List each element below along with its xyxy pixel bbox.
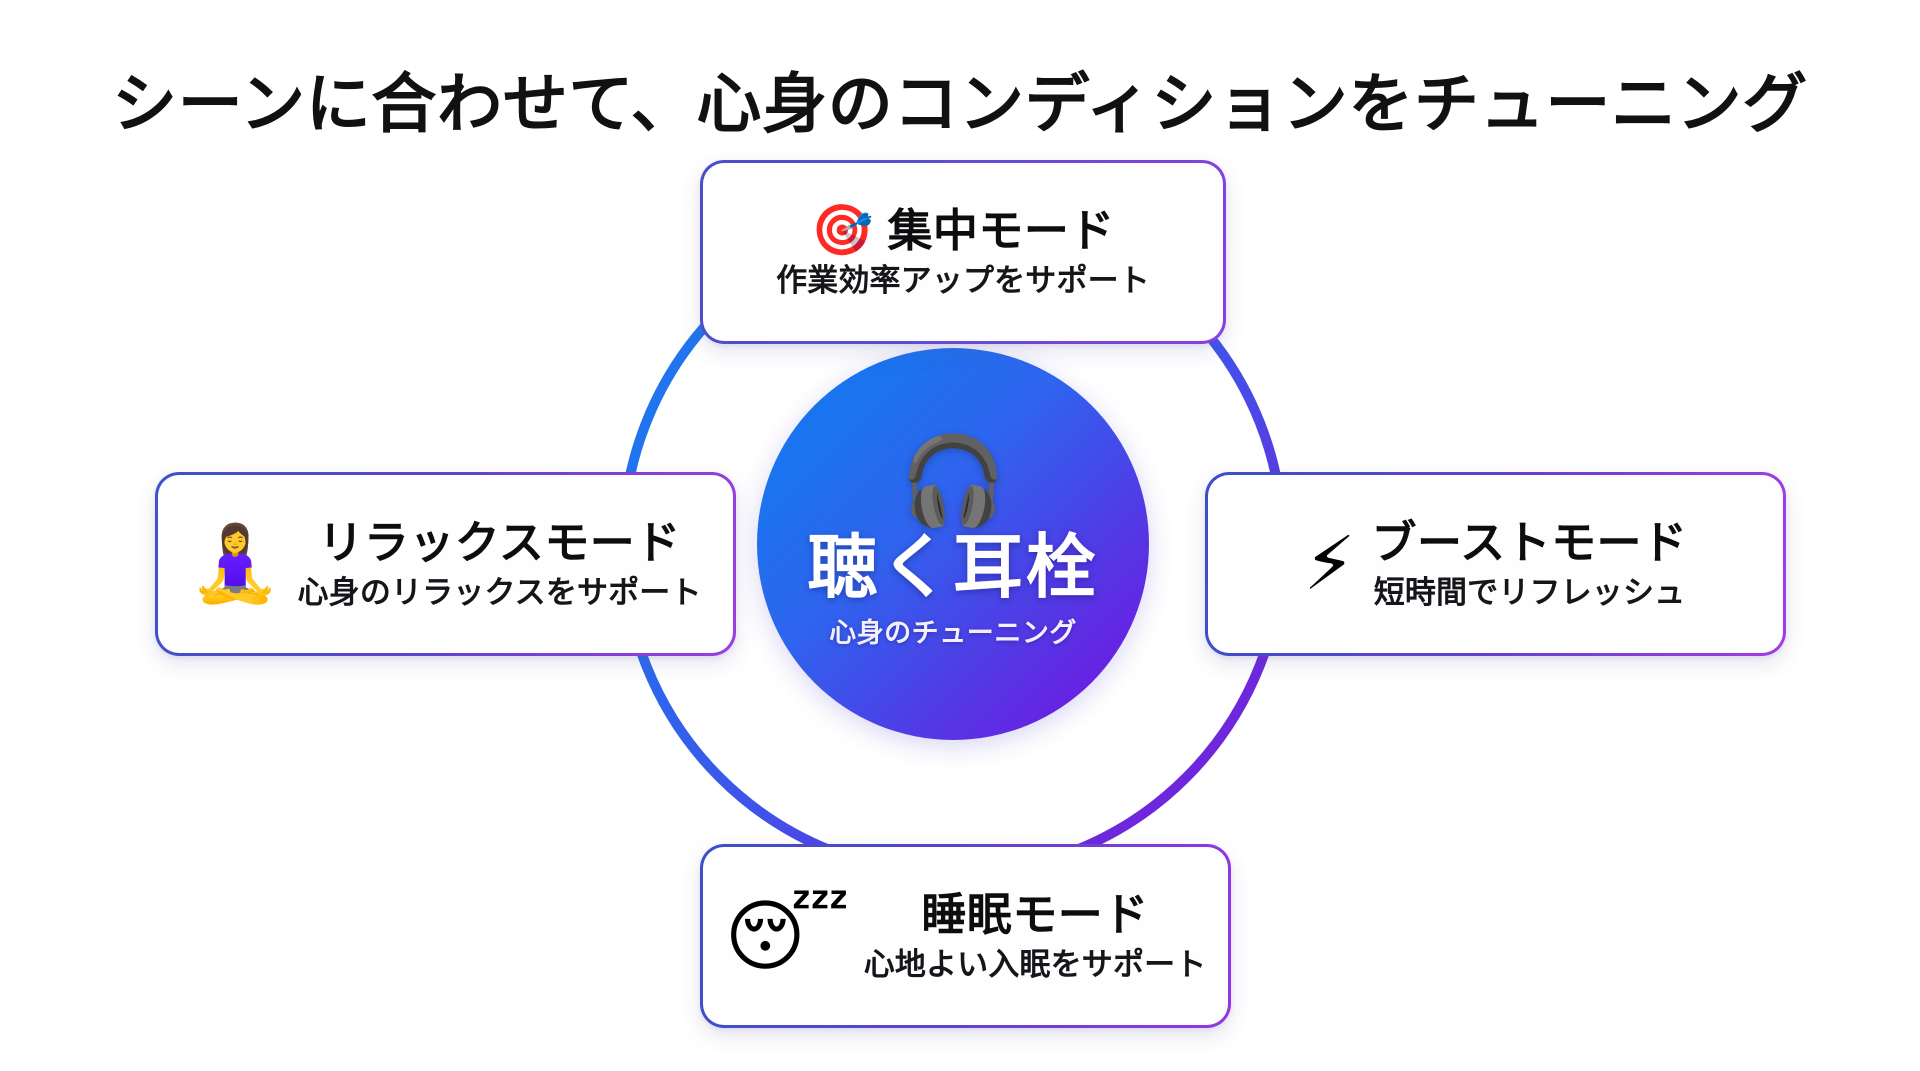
mode-card-relax-title: リラックスモード bbox=[318, 517, 680, 568]
mode-card-boost-text: ブーストモード 短時間でリフレッシュ bbox=[1372, 517, 1688, 611]
meditating-person-icon: 🧘‍♀️ bbox=[189, 527, 281, 601]
headphones-icon: 🎧 bbox=[899, 438, 1006, 524]
mode-card-boost-title: ブーストモード bbox=[1372, 517, 1688, 568]
mode-card-relax-body: 🧘‍♀️ リラックスモード 心身のリラックスをサポート bbox=[171, 517, 719, 611]
mode-card-sleep-inner: 😴 睡眠モード 心地よい入眠をサポート bbox=[703, 847, 1228, 1025]
mode-card-boost-subtitle: 短時間でリフレッシュ bbox=[1374, 574, 1686, 611]
mode-card-focus-subtitle: 作業効率アップをサポート bbox=[776, 262, 1150, 299]
mode-card-sleep-subtitle: 心地よい入眠をサポート bbox=[864, 946, 1207, 983]
mode-card-relax-subtitle: 心身のリラックスをサポート bbox=[298, 574, 702, 611]
mode-card-relax-text: リラックスモード 心身のリラックスをサポート bbox=[298, 517, 702, 611]
sleeping-face-icon: 😴 bbox=[725, 897, 850, 975]
mode-card-focus-title-row: 🎯 集中モード bbox=[811, 205, 1115, 256]
mode-card-sleep[interactable]: 😴 睡眠モード 心地よい入眠をサポート bbox=[700, 844, 1231, 1028]
mode-card-sleep-title: 睡眠モード bbox=[921, 889, 1148, 940]
hub-title: 聴く耳栓 bbox=[807, 530, 1098, 606]
page-title: シーンに合わせて、心身のコンディションをチューニング bbox=[0, 68, 1920, 141]
target-icon: 🎯 bbox=[811, 205, 873, 255]
mode-card-sleep-body: 😴 睡眠モード 心地よい入眠をサポート bbox=[707, 889, 1225, 983]
mode-card-sleep-text: 睡眠モード 心地よい入眠をサポート bbox=[864, 889, 1207, 983]
mode-card-focus-body: 🎯 集中モード 作業効率アップをサポート bbox=[758, 205, 1168, 299]
mode-card-relax[interactable]: 🧘‍♀️ リラックスモード 心身のリラックスをサポート bbox=[155, 472, 736, 656]
mode-card-focus[interactable]: 🎯 集中モード 作業効率アップをサポート bbox=[700, 160, 1226, 344]
center-hub: 🎧 聴く耳栓 心身のチューニング bbox=[757, 348, 1149, 740]
mode-card-focus-inner: 🎯 集中モード 作業効率アップをサポート bbox=[703, 163, 1223, 341]
mode-card-boost-inner: ⚡ ブーストモード 短時間でリフレッシュ bbox=[1208, 475, 1783, 653]
mode-diagram: 🎧 聴く耳栓 心身のチューニング 🎯 集中モード 作業効率アップをサポート 🧘‍… bbox=[0, 150, 1920, 1050]
mode-card-relax-inner: 🧘‍♀️ リラックスモード 心身のリラックスをサポート bbox=[158, 475, 733, 653]
mode-card-focus-title: 集中モード bbox=[887, 205, 1114, 256]
hub-subtitle: 心身のチューニング bbox=[829, 611, 1077, 650]
mode-card-boost[interactable]: ⚡ ブーストモード 短時間でリフレッシュ bbox=[1205, 472, 1786, 656]
lightning-bolt-icon: ⚡ bbox=[1304, 527, 1356, 601]
mode-card-boost-body: ⚡ ブーストモード 短時間でリフレッシュ bbox=[1286, 517, 1706, 611]
